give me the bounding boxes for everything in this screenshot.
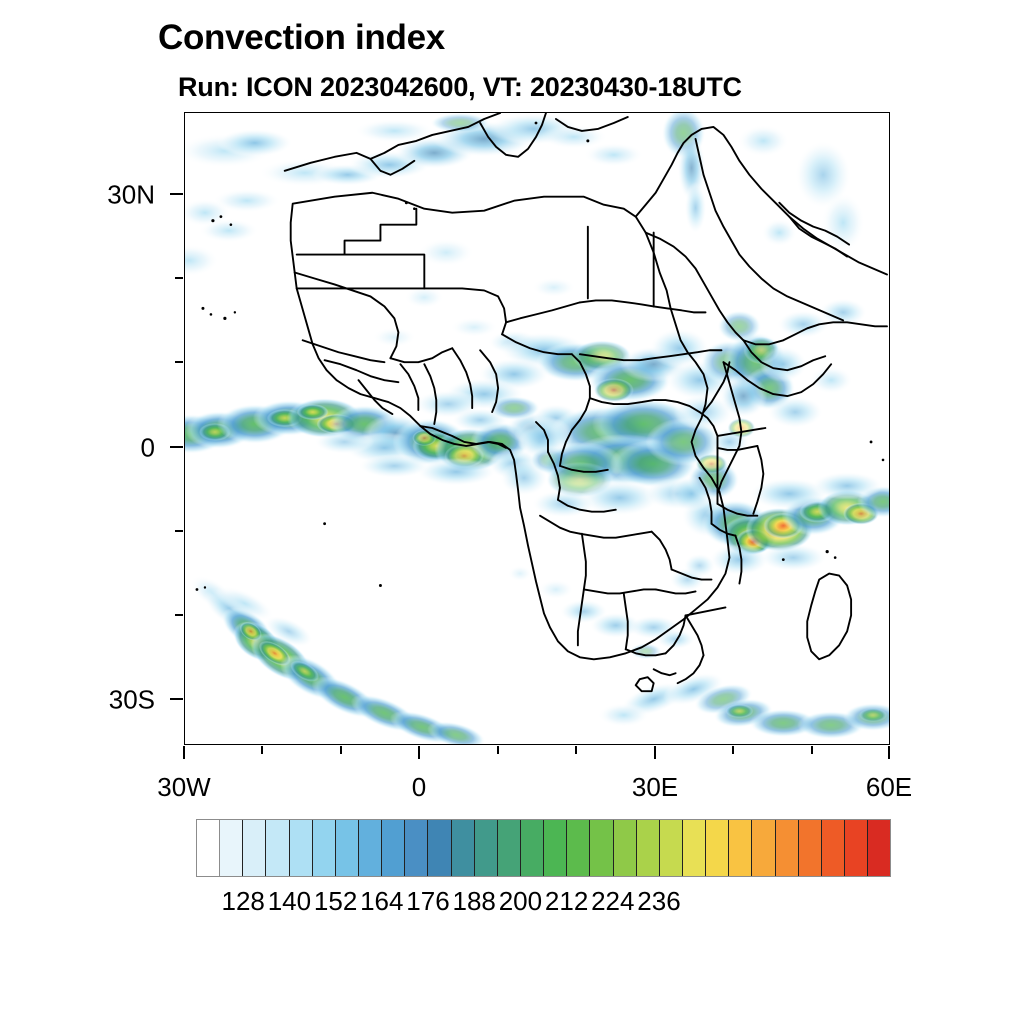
colorbar[interactable] [197,820,890,876]
colorbar-cell-12 [475,820,498,876]
colorbar-label-212: 212 [545,886,588,917]
border-angola-east [582,534,586,590]
convection-index-figure: Convection index Run: ICON 2023042600, V… [0,0,1024,1024]
x-tick-minor-20W [261,746,263,754]
colorbar-cell-20 [660,820,683,876]
northwest-atlantic-haze [185,219,259,277]
colorbar-cell-5 [313,820,336,876]
y-axis-label-30N: 30N [100,180,155,211]
page-title: Convection index [158,18,445,58]
southern-africa-convection [508,554,715,660]
colorbar-cell-8 [382,820,405,876]
colorbar-label-164: 164 [360,886,403,917]
border-angola-namibia [584,589,656,593]
colorbar-cell-11 [452,820,475,876]
colorbar-cell-9 [405,820,428,876]
colorbar-cell-17 [590,820,613,876]
x-axis-label-30E: 30E [632,772,678,803]
colorbar-label-140: 140 [268,886,311,917]
x-tick-minor-10W [340,746,342,754]
map-canvas [185,113,889,744]
colorbar-cell-29 [868,820,890,876]
colorbar-label-176: 176 [406,886,449,917]
y-tick-minor-20S [175,614,183,616]
colorbar-cell-18 [614,820,637,876]
ethiopia-convection [717,298,867,428]
colorbar-cell-10 [428,820,451,876]
y-tick-minor-10S [175,530,183,532]
border-mali-burkina [390,348,452,362]
colorbar-cell-19 [637,820,660,876]
x-tick-30W [183,746,185,759]
colorbar-label-188: 188 [452,886,495,917]
colorbar-cell-28 [845,820,868,876]
y-axis-label-30S: 30S [100,685,155,716]
south-atlantic-frontal-band [185,568,488,744]
colorbar-cell-25 [776,820,799,876]
map-plot-area [184,112,890,745]
border-angola-cabinda [540,516,580,534]
x-tick-minor-50E [811,746,813,754]
colorbar-label-236: 236 [637,886,680,917]
border-zimbabwe-zambia [686,607,726,615]
x-axis-label-30W: 30W [157,772,210,803]
colorbar-cell-6 [336,820,359,876]
x-tick-minor-40E [732,746,734,754]
y-tick-minor-20N [175,277,183,279]
x-tick-minor-10E [497,746,499,754]
colorbar-cell-15 [544,820,567,876]
y-axis-label-0: 0 [100,433,155,464]
run-valid-time-subtitle: Run: ICON 2023042600, VT: 20230430-18UTC [178,72,742,103]
x-tick-0 [418,746,420,759]
colorbar-cell-26 [799,820,822,876]
colorbar-cell-4 [290,820,313,876]
y-tick-30S [170,698,183,700]
colorbar-cell-0 [197,820,220,876]
y-tick-minor-10N [175,361,183,363]
red-sea-west-coast [646,233,744,341]
colorbar-cell-3 [266,820,289,876]
x-axis-label-60E: 60E [866,772,912,803]
border-egypt-sudan [654,306,706,312]
colorbar-cell-21 [683,820,706,876]
colorbar-label-152: 152 [314,886,357,917]
x-tick-minor-20E [575,746,577,754]
colorbar-cell-23 [729,820,752,876]
colorbar-label-128: 128 [221,886,264,917]
colorbar-label-224: 224 [591,886,634,917]
colorbar-cell-22 [706,820,729,876]
x-tick-30E [654,746,656,759]
madagascar-coastline [807,574,851,660]
y-tick-30N [170,193,183,195]
colorbar-cell-27 [822,820,845,876]
x-axis-label-0: 0 [412,772,426,803]
border-angola-drc-south [580,532,652,538]
south-indian-ocean-frontal-band [598,666,889,739]
mediterranean-cloud-band [185,113,865,253]
border-western-sahara [297,209,417,255]
colorbar-cell-24 [752,820,775,876]
border-swaziland [654,669,676,675]
border-algeria-libya [506,302,580,322]
y-tick-0 [170,446,183,448]
colorbar-cell-1 [220,820,243,876]
x-tick-60E [888,746,890,759]
colorbar-cell-16 [567,820,590,876]
border-zambia-drc [652,532,672,570]
colorbar-cell-14 [521,820,544,876]
border-libya-egypt [580,300,654,306]
colorbar-label-200: 200 [499,886,542,917]
colorbar-cell-2 [243,820,266,876]
colorbar-cell-13 [498,820,521,876]
border-mauritania-north [297,255,425,289]
colorbar-cell-7 [359,820,382,876]
